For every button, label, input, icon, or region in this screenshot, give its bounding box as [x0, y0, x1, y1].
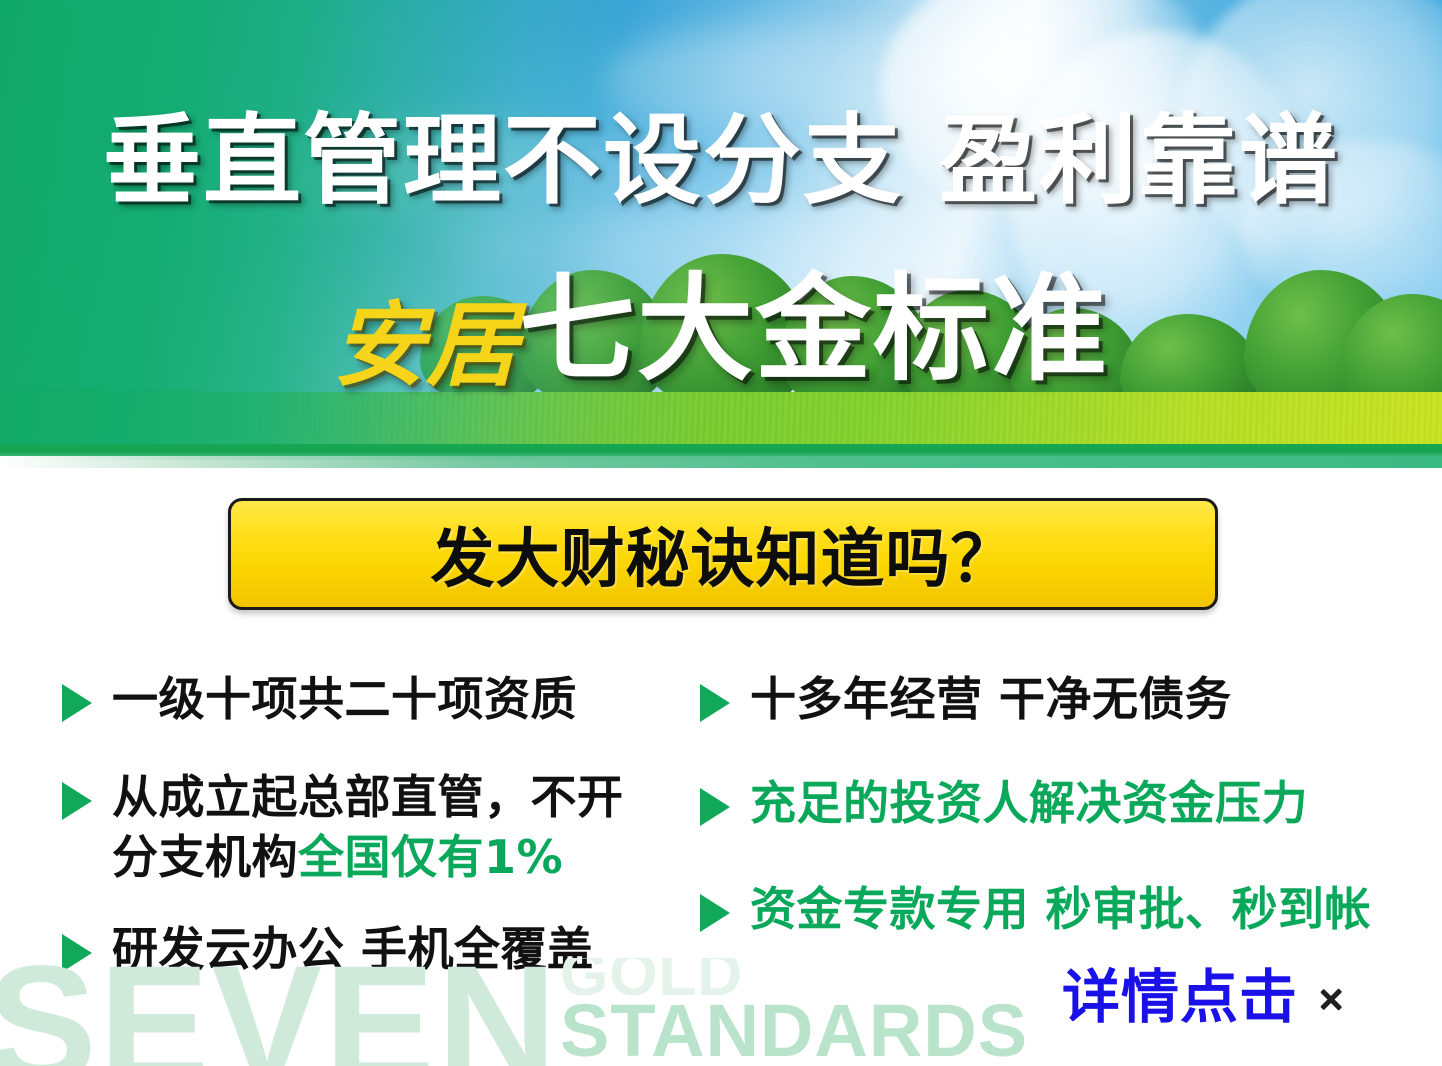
feature-item-text-highlight: 全国仅有1% — [298, 830, 563, 884]
feature-item-dedicated-funds: 资金专款专用 秒审批、秒到帐 — [700, 880, 1371, 940]
feature-item-qualifications: 一级十项共二十项资质 — [62, 670, 577, 730]
feature-item-ten-years: 十多年经营 干净无债务 — [700, 670, 1232, 730]
green-triangle-icon — [62, 934, 92, 972]
headline-callout-text: 发大财秘诀知道吗？ — [431, 508, 1016, 600]
hero-headline-secondary: 安居七大金标准 — [0, 272, 1442, 392]
chevron-right-icon — [1320, 975, 1346, 1019]
feature-item-label: 从成立起总部直管，不开 分支机构全国仅有1% — [112, 768, 624, 888]
hero-headline-brand: 安居 — [333, 292, 519, 399]
green-divider-fade — [0, 456, 1442, 468]
hero-headline-primary: 垂直管理不设分支 盈利靠谱 — [0, 112, 1442, 210]
green-triangle-icon — [700, 788, 730, 826]
feature-item-label: 一级十项共二十项资质 — [112, 670, 577, 730]
green-triangle-icon — [700, 684, 730, 722]
green-triangle-icon — [62, 684, 92, 722]
feature-item-label: 资金专款专用 秒审批、秒到帐 — [750, 880, 1371, 940]
feature-item-investors: 充足的投资人解决资金压力 — [700, 774, 1308, 834]
green-triangle-icon — [62, 782, 92, 820]
feature-columns: 一级十项共二十项资质 从成立起总部直管，不开 分支机构全国仅有1% 研发云办公 … — [0, 664, 1442, 984]
hero-banner: 垂直管理不设分支 盈利靠谱 安居七大金标准 — [0, 0, 1442, 468]
detail-link-label: 详情点击 — [1062, 968, 1298, 1026]
headline-callout-bar[interactable]: 发大财秘诀知道吗？ — [228, 498, 1218, 610]
feature-item-label: 十多年经营 干净无债务 — [750, 670, 1232, 730]
hero-headline-emphasis: 七大金标准 — [519, 262, 1109, 397]
feature-item-label: 研发云办公 手机全覆盖 — [112, 920, 594, 980]
detail-link[interactable]: 详情点击 — [1062, 968, 1346, 1026]
watermark-standards: STANDARDS — [560, 994, 1028, 1066]
feature-item-direct-management: 从成立起总部直管，不开 分支机构全国仅有1% — [62, 768, 624, 888]
feature-item-cloud-office: 研发云办公 手机全覆盖 — [62, 920, 594, 980]
green-triangle-icon — [700, 894, 730, 932]
feature-item-label: 充足的投资人解决资金压力 — [750, 774, 1308, 834]
